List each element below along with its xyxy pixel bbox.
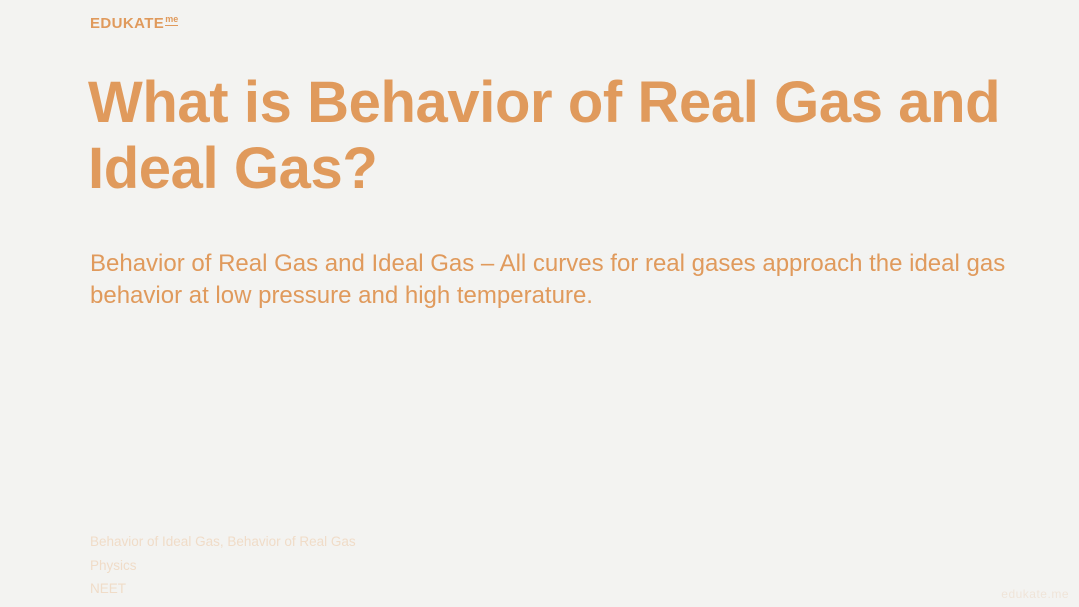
footer-line-exam: NEET — [90, 581, 356, 597]
page-title: What is Behavior of Real Gas and Ideal G… — [88, 70, 1018, 202]
page-subtitle: Behavior of Real Gas and Ideal Gas – All… — [90, 248, 1010, 313]
footer-line-topics: Behavior of Ideal Gas, Behavior of Real … — [90, 534, 356, 550]
footer-line-subject: Physics — [90, 558, 356, 574]
footer-meta: Behavior of Ideal Gas, Behavior of Real … — [90, 534, 356, 597]
watermark: edukate.me — [1001, 587, 1069, 601]
brand-logo-superscript: me — [165, 15, 178, 26]
brand-logo[interactable]: EDUKATE me — [90, 16, 178, 31]
brand-logo-wordmark: EDUKATE — [90, 16, 164, 31]
slide: EDUKATE me What is Behavior of Real Gas … — [0, 0, 1079, 607]
